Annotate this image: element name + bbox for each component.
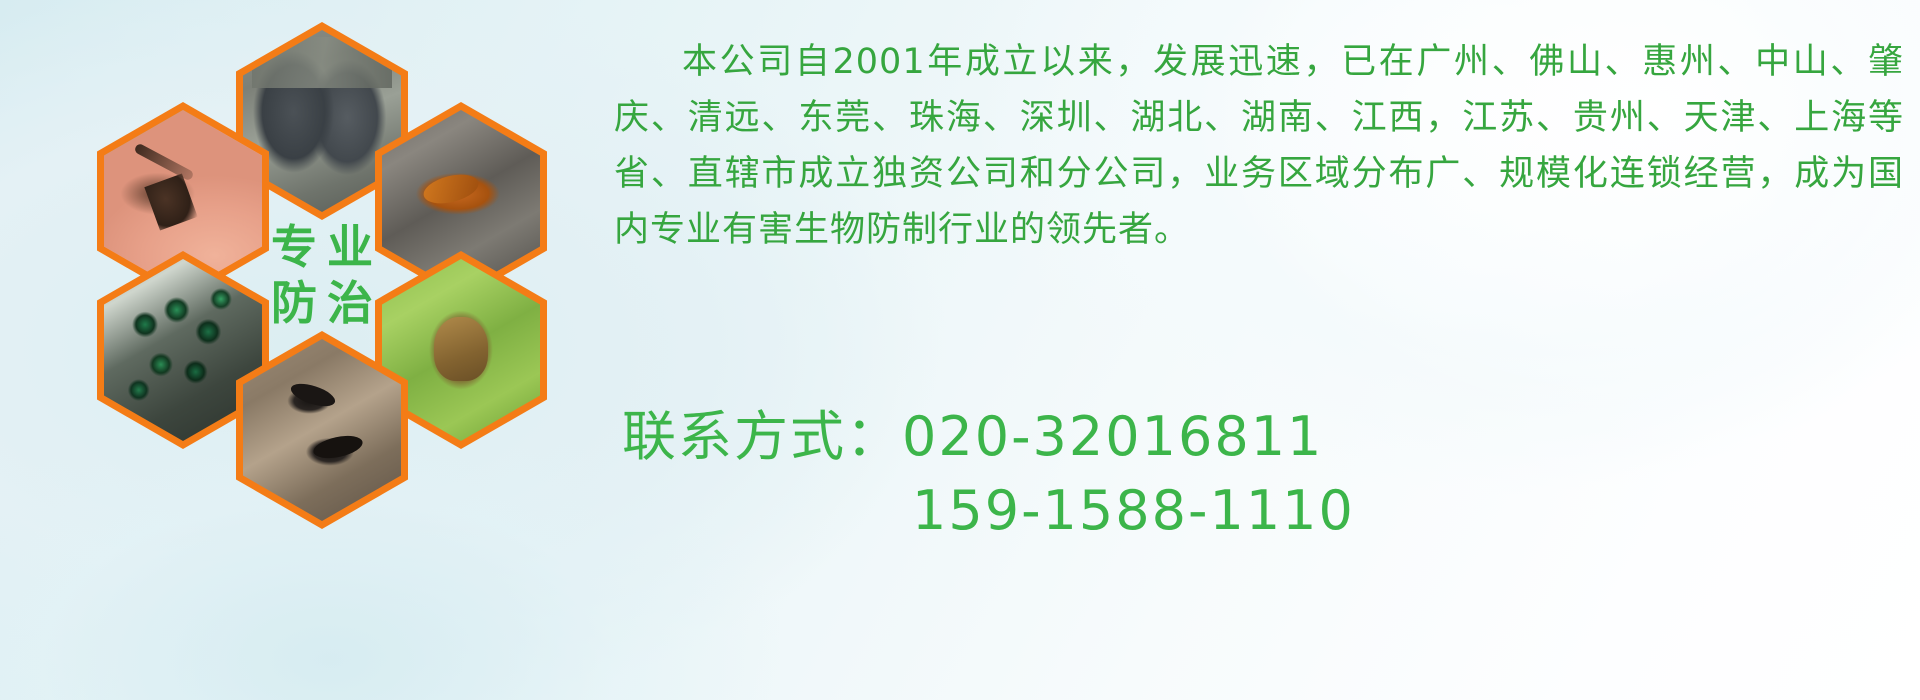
contact-primary-line: 联系方式：020-32016811 [622, 400, 1912, 474]
contact-block: 联系方式：020-32016811 159-1588-1110 [622, 400, 1912, 548]
honeycomb-collage: 专业 防治 [96, 8, 596, 568]
company-description: 本公司自2001年成立以来，发展迅速，已在广州、佛山、惠州、中山、肇庆、清远、东… [614, 34, 1904, 258]
honeycomb-label-line1: 专业 [261, 223, 383, 273]
promo-banner: 专业 防治 本公司自2001年成立以来，发展迅速，已在广州、佛山、惠州、中山、肇… [0, 0, 1920, 700]
company-description-text: 本公司自2001年成立以来，发展迅速，已在广州、佛山、惠州、中山、肇庆、清远、东… [614, 34, 1904, 258]
contact-phone-secondary[interactable]: 159-1588-1110 [912, 479, 1355, 542]
contact-secondary-line: 159-1588-1110 [622, 474, 1912, 548]
contact-label: 联系方式： [622, 405, 902, 468]
contact-phone-primary[interactable]: 020-32016811 [902, 405, 1323, 468]
honeycomb-label-line2: 防治 [261, 279, 383, 329]
